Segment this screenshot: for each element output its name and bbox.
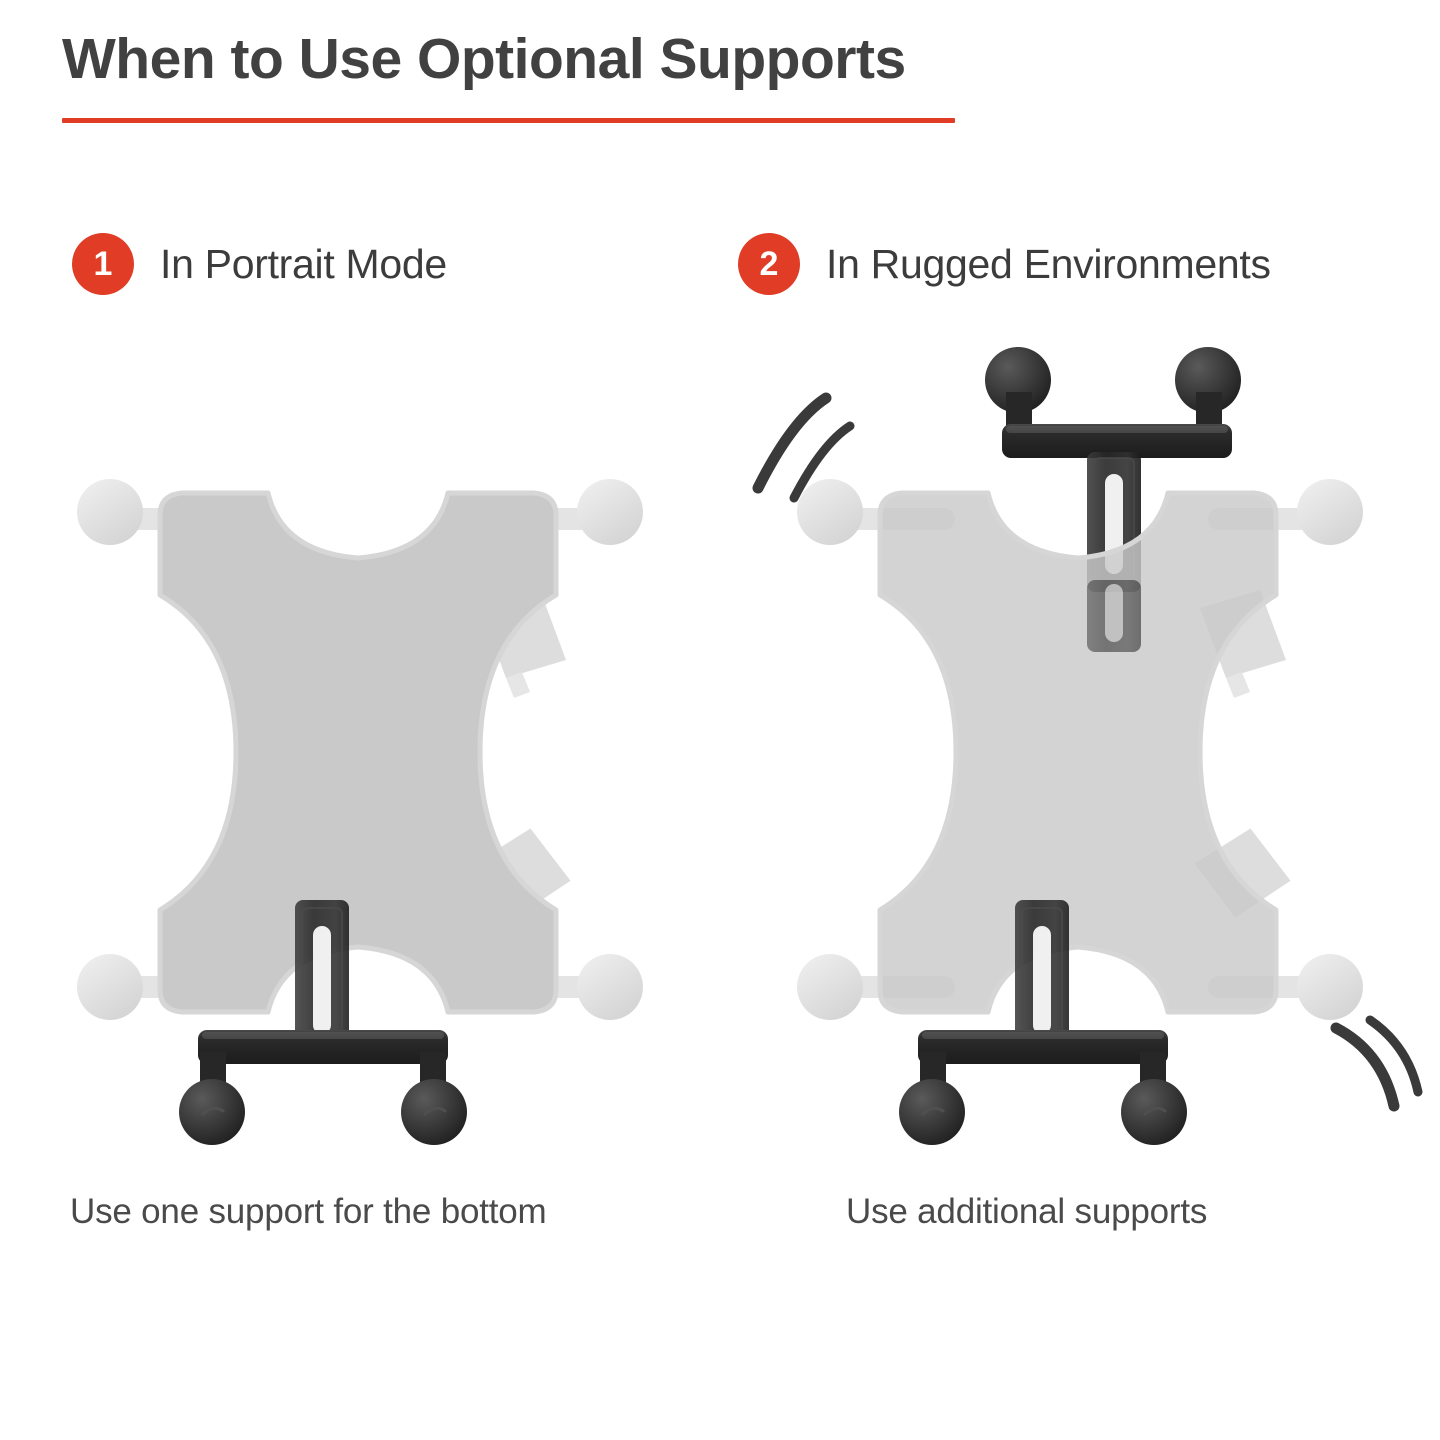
tablet-cradle-body <box>880 493 1276 1012</box>
step-heading-2: 2 In Rugged Environments <box>738 228 1271 300</box>
step-title-2: In Rugged Environments <box>826 241 1271 288</box>
step-headings: 1 In Portrait Mode 2 In Rugged Environme… <box>0 228 1440 308</box>
caption-1: Use one support for the bottom <box>70 1192 547 1232</box>
figure-portrait-mode <box>10 340 710 1170</box>
illustration-panel-2 <box>730 340 1430 1170</box>
step-badge-1: 1 <box>72 233 134 295</box>
page-title: When to Use Optional Supports <box>62 28 1382 91</box>
vibration-arcs-right <box>1336 1020 1418 1106</box>
illustration-panel-1 <box>10 340 710 1170</box>
header: When to Use Optional Supports <box>62 28 1382 123</box>
top-support-post-lower <box>1087 580 1141 652</box>
step-badge-2: 2 <box>738 233 800 295</box>
tablet-cradle-body <box>160 493 556 1012</box>
step-title-1: In Portrait Mode <box>160 241 447 288</box>
caption-2: Use additional supports <box>846 1192 1207 1232</box>
title-divider <box>62 118 955 123</box>
infographic-page: When to Use Optional Supports 1 In Portr… <box>0 0 1440 1440</box>
step-heading-1: 1 In Portrait Mode <box>72 228 447 300</box>
figure-rugged-environments <box>730 340 1430 1170</box>
